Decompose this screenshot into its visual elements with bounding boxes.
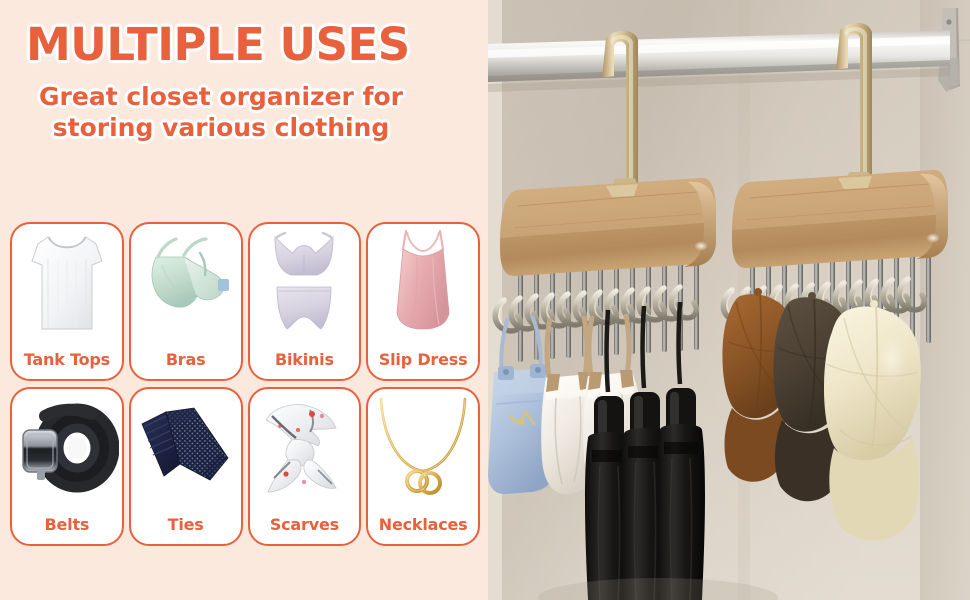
- category-label: Tank Tops: [24, 350, 110, 379]
- category-card-bikinis[interactable]: Bikinis: [248, 222, 362, 381]
- bra-icon: [131, 228, 241, 338]
- slip-dress-icon: [368, 228, 478, 338]
- bikini-icon: [250, 228, 360, 338]
- headline-block: MULTIPLE USES Great closet organizer for…: [0, 0, 488, 143]
- category-label: Ties: [168, 515, 204, 544]
- product-photo: [488, 0, 970, 600]
- scarf-icon: [250, 393, 360, 503]
- category-label: Necklaces: [379, 515, 468, 544]
- category-card-bras[interactable]: Bras: [129, 222, 243, 381]
- belt-icon: [12, 393, 122, 503]
- category-card-belts[interactable]: Belts: [10, 387, 124, 546]
- tie-icon: [131, 393, 241, 503]
- closet-scene: [488, 0, 970, 600]
- left-info-panel: MULTIPLE USES Great closet organizer for…: [0, 0, 488, 600]
- category-card-tank-tops[interactable]: Tank Tops: [10, 222, 124, 381]
- category-label: Belts: [45, 515, 90, 544]
- cap-cream: [824, 300, 921, 541]
- subtitle-line-1: Great closet organizer for: [0, 81, 442, 112]
- category-grid: Tank Tops: [10, 222, 480, 546]
- page-title: MULTIPLE USES: [0, 22, 488, 69]
- category-label: Bikinis: [275, 350, 334, 379]
- category-label: Scarves: [270, 515, 339, 544]
- page-subtitle: Great closet organizer for storing vario…: [0, 81, 488, 144]
- product-infographic: MULTIPLE USES Great closet organizer for…: [0, 0, 970, 600]
- category-label: Slip Dress: [379, 350, 468, 379]
- category-label: Bras: [166, 350, 206, 379]
- category-card-necklaces[interactable]: Necklaces: [366, 387, 480, 546]
- category-card-ties[interactable]: Ties: [129, 387, 243, 546]
- category-card-slip-dress[interactable]: Slip Dress: [366, 222, 480, 381]
- category-card-scarves[interactable]: Scarves: [248, 387, 362, 546]
- tank-top-icon: [12, 228, 122, 338]
- necklace-icon: [368, 393, 478, 503]
- subtitle-line-2: storing various clothing: [0, 112, 442, 143]
